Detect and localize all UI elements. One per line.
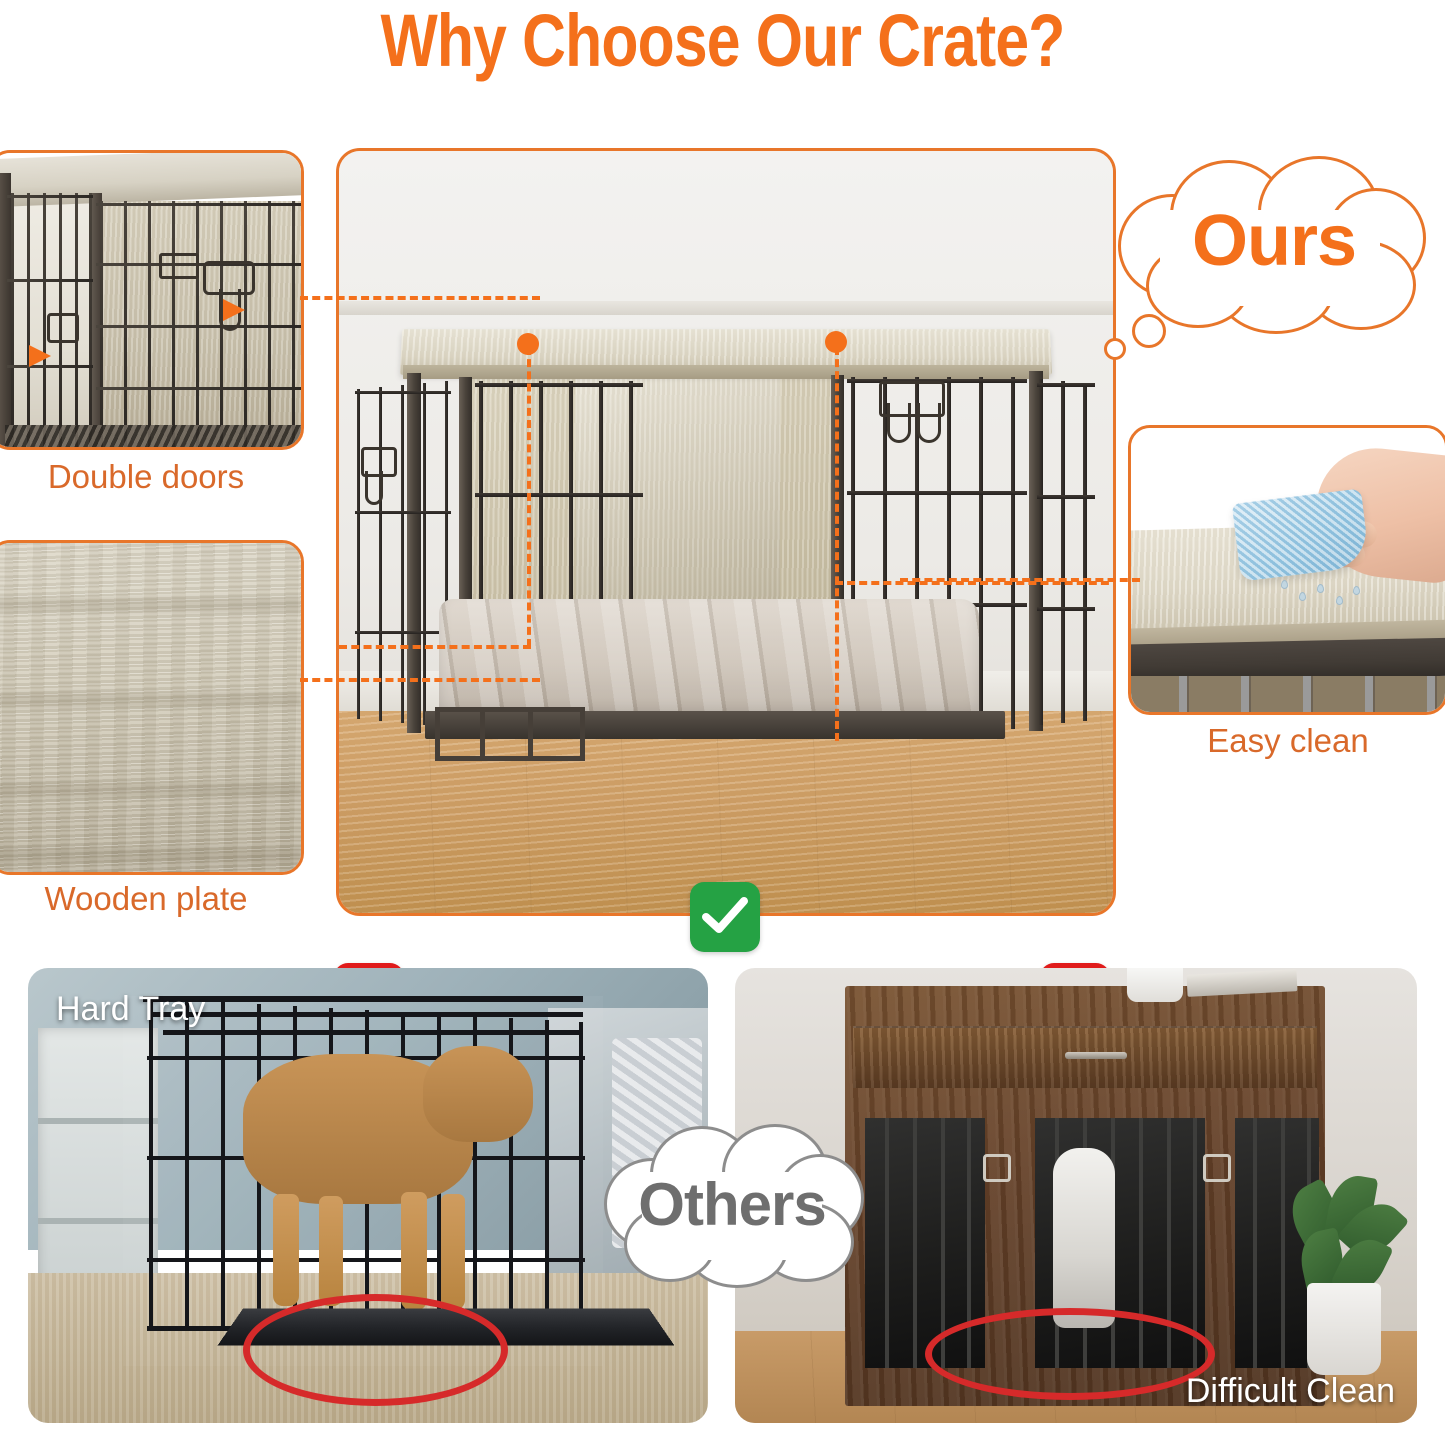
caster-wheel-front-center (517, 795, 563, 857)
annotation-ellipse-difficult-clean (925, 1308, 1215, 1400)
callout-line-top-left (527, 347, 531, 647)
annotation-ellipse-hard-tray (243, 1294, 508, 1406)
cabinet-latch-right-icon (1203, 1154, 1231, 1182)
feature-thumbnail-double-doors (0, 150, 304, 450)
connector-wooden-plate (300, 678, 540, 682)
side-latch-pointer-arrow-icon (29, 345, 51, 367)
caster-wheel-front-right (1039, 699, 1085, 761)
door-latch-secondary-icon (159, 253, 199, 279)
connector-easy-clean (900, 578, 1140, 582)
label-difficult-clean: Difficult Clean (1186, 1372, 1395, 1411)
caster-wheel-front-left (393, 721, 439, 783)
label-hard-tray: Hard Tray (56, 990, 205, 1029)
right-door-hook-b-icon (917, 403, 941, 443)
ours-label: Ours (1108, 200, 1440, 282)
check-mark-icon (702, 897, 748, 937)
caption-wooden-plate: Wooden plate (0, 880, 304, 918)
bubble-dot-small (1104, 338, 1126, 360)
bubble-dot-large (1132, 314, 1166, 348)
left-door-latch-hook-icon (365, 471, 383, 505)
potted-plant-decor (1289, 1175, 1399, 1375)
feature-thumbnail-easy-clean (1128, 425, 1445, 715)
feature-thumbnail-wooden-plate (0, 540, 304, 875)
latch-pointer-arrow-icon (223, 299, 245, 321)
status-badge-ours-check (690, 882, 760, 952)
callout-dot-wooden-top-right (825, 331, 847, 353)
others-label: Others (598, 1170, 866, 1239)
connector-double-doors (300, 296, 540, 300)
others-thought-bubble: Others (598, 1118, 866, 1308)
callout-line-to-wooden-plate (339, 645, 531, 649)
callout-line-top-right (835, 347, 839, 741)
easy-clean-image (1131, 428, 1445, 712)
side-door-latch-icon (47, 313, 79, 343)
caster-wheel-rear-right (969, 731, 1015, 793)
caption-easy-clean: Easy clean (1128, 722, 1445, 760)
crate-base-grid (435, 707, 585, 761)
double-doors-image (0, 153, 301, 447)
hero-product-image (336, 148, 1116, 916)
cabinet-latch-left-icon (983, 1154, 1011, 1182)
right-door-hook-a-icon (887, 403, 911, 443)
page-title: Why Choose Our Crate? (130, 2, 1315, 80)
dog-in-crate-illustration (1053, 1148, 1115, 1328)
caption-double-doors: Double doors (0, 458, 304, 496)
cup-decor (1127, 968, 1183, 1002)
ours-thought-bubble: Ours (1108, 152, 1440, 337)
callout-dot-wooden-top-left (517, 333, 539, 355)
wooden-plate-image (0, 543, 301, 872)
dog-bed-cushion (439, 599, 979, 719)
